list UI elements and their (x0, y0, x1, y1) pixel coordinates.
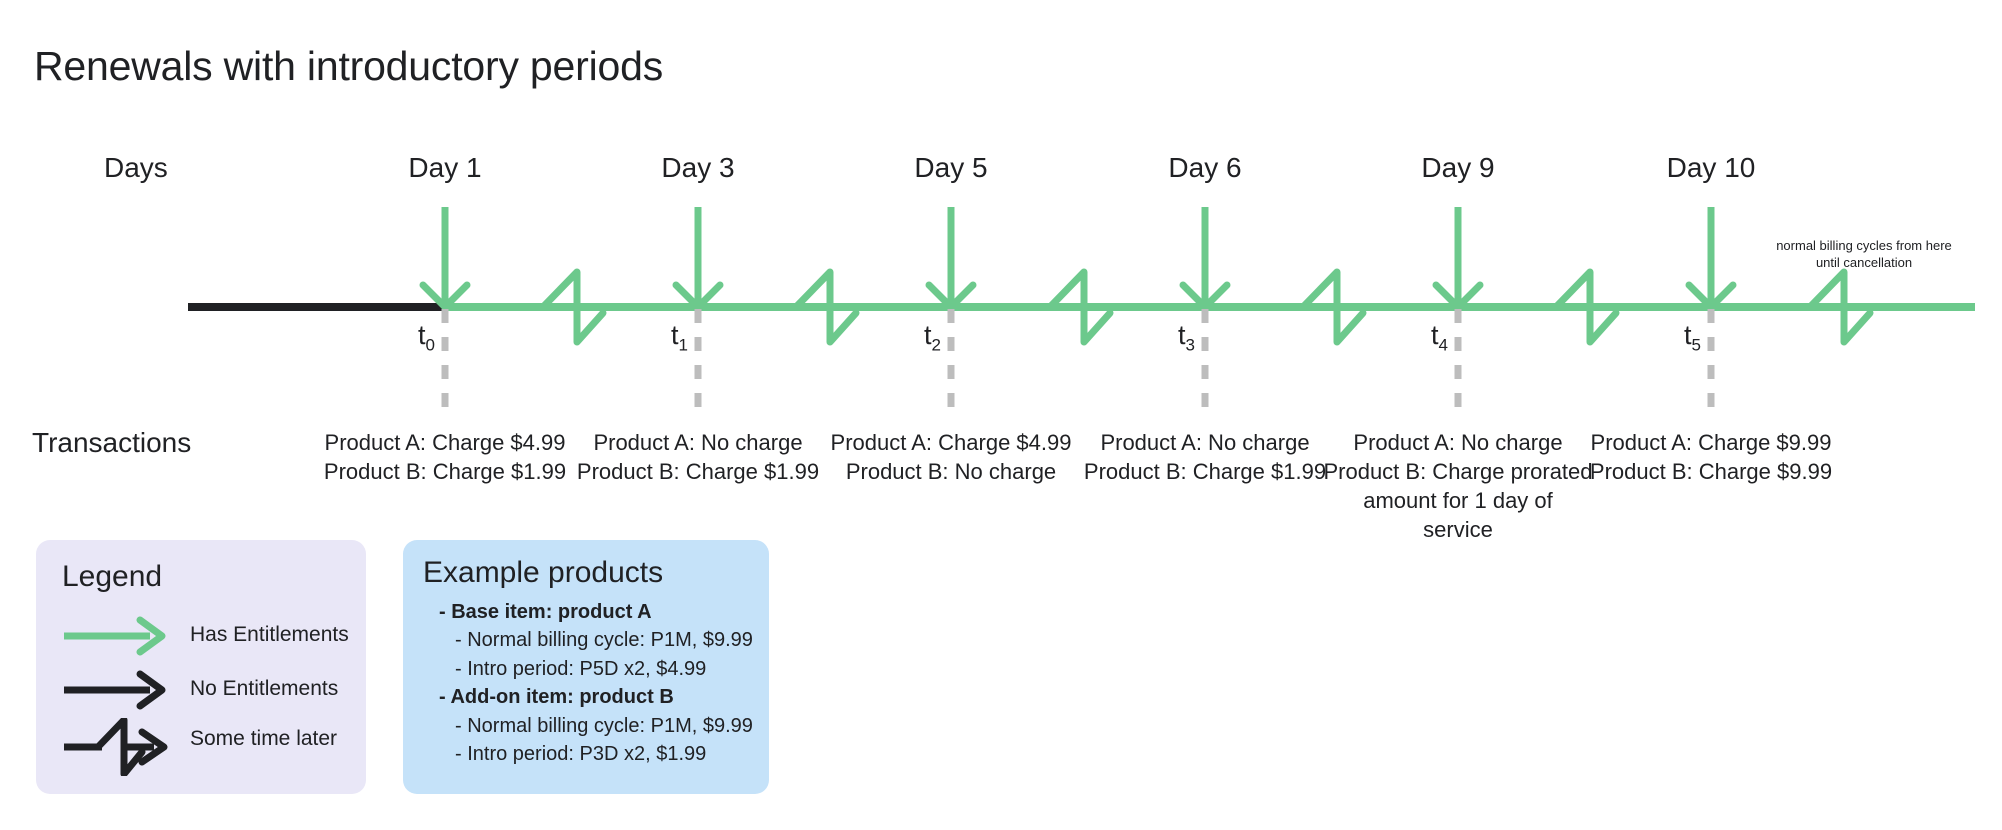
transaction-line: Product A: No charge (577, 428, 819, 457)
legend-card: Legend Has Entitlements No Entitlements … (36, 540, 366, 794)
day-label-t4: Day 9 (1421, 152, 1494, 184)
time-label-subscript: 4 (1439, 335, 1448, 354)
legend-label: Has Entitlements (190, 623, 349, 647)
time-label-base: t (671, 320, 679, 350)
time-label-base: t (418, 320, 426, 350)
time-label-base: t (1431, 320, 1439, 350)
time-label-t0: t0 (418, 320, 435, 355)
transaction-line: service (1323, 515, 1592, 544)
time-label-t1: t1 (671, 320, 688, 355)
day-label-t5: Day 10 (1667, 152, 1756, 184)
transaction-line: Product A: Charge $4.99 (324, 428, 566, 457)
normal-billing-note: normal billing cycles from here until ca… (1769, 238, 1959, 271)
product-line: - Intro period: P3D x2, $1.99 (423, 740, 763, 768)
days-axis-label: Days (104, 152, 168, 184)
day-marker-arrow-t4 (1436, 207, 1480, 307)
black-arrow-icon (62, 668, 174, 712)
transaction-block-t1: Product A: No chargeProduct B: Charge $1… (577, 428, 819, 486)
transaction-line: Product B: No charge (831, 457, 1072, 486)
transaction-line: Product A: Charge $9.99 (1590, 428, 1832, 457)
black-zigzag-arrow-icon (62, 718, 174, 776)
day-label-t3: Day 6 (1168, 152, 1241, 184)
day-marker-arrows-group (423, 207, 1733, 307)
example-products-list: - Base item: product A- Normal billing c… (423, 598, 763, 768)
time-label-base: t (1178, 320, 1186, 350)
time-label-subscript: 2 (932, 335, 941, 354)
time-label-t4: t4 (1431, 320, 1448, 355)
product-line: - Normal billing cycle: P1M, $9.99 (423, 712, 763, 740)
example-products-card: Example products - Base item: product A-… (403, 540, 769, 794)
transaction-line: Product A: No charge (1323, 428, 1592, 457)
day-marker-arrow-t1 (676, 207, 720, 307)
day-marker-arrow-t2 (929, 207, 973, 307)
time-label-subscript: 0 (426, 335, 435, 354)
time-label-t2: t2 (924, 320, 941, 355)
legend-title: Legend (62, 560, 162, 594)
product-line: - Normal billing cycle: P1M, $9.99 (423, 626, 763, 654)
day-marker-arrow-t0 (423, 207, 467, 307)
time-label-t3: t3 (1178, 320, 1195, 355)
time-label-t5: t5 (1684, 320, 1701, 355)
time-label-subscript: 5 (1692, 335, 1701, 354)
product-line: - Add-on item: product B (423, 683, 763, 711)
transaction-block-t0: Product A: Charge $4.99Product B: Charge… (324, 428, 566, 486)
transaction-line: amount for 1 day of (1323, 486, 1592, 515)
transaction-line: Product B: Charge $9.99 (1590, 457, 1832, 486)
day-label-t0: Day 1 (408, 152, 481, 184)
time-label-base: t (1684, 320, 1692, 350)
transaction-block-t3: Product A: No chargeProduct B: Charge $1… (1084, 428, 1326, 486)
day-label-t2: Day 5 (914, 152, 987, 184)
day-marker-arrow-t5 (1689, 207, 1733, 307)
transaction-line: Product B: Charge prorated (1323, 457, 1592, 486)
legend-label: No Entitlements (190, 677, 338, 701)
timeline-diagram: Days Transactions Day 1Day 3Day 5Day 6Da… (0, 0, 2002, 560)
green-arrow-icon (62, 614, 174, 658)
time-label-base: t (924, 320, 932, 350)
transaction-line: Product A: No charge (1084, 428, 1326, 457)
transaction-line: Product A: Charge $4.99 (831, 428, 1072, 457)
transaction-block-t4: Product A: No chargeProduct B: Charge pr… (1323, 428, 1592, 544)
transaction-line: Product B: Charge $1.99 (1084, 457, 1326, 486)
transaction-block-t2: Product A: Charge $4.99Product B: No cha… (831, 428, 1072, 486)
product-line: - Intro period: P5D x2, $4.99 (423, 655, 763, 683)
product-line: - Base item: product A (423, 598, 763, 626)
transaction-connector-dashes-group (445, 309, 1711, 420)
transaction-line: Product B: Charge $1.99 (324, 457, 566, 486)
example-products-title: Example products (423, 556, 663, 590)
legend-label: Some time later (190, 727, 337, 751)
transaction-line: Product B: Charge $1.99 (577, 457, 819, 486)
time-label-subscript: 1 (679, 335, 688, 354)
transaction-block-t5: Product A: Charge $9.99Product B: Charge… (1590, 428, 1832, 486)
time-label-subscript: 3 (1186, 335, 1195, 354)
transactions-axis-label: Transactions (32, 427, 191, 459)
day-label-t1: Day 3 (661, 152, 734, 184)
day-marker-arrow-t3 (1183, 207, 1227, 307)
